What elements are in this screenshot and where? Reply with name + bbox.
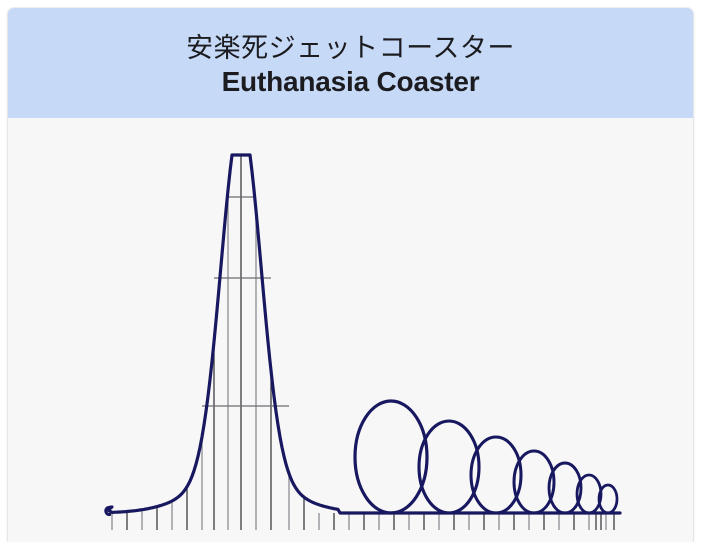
coaster-track-path [106,155,620,515]
title-japanese: 安楽死ジェットコースター [186,31,515,65]
coaster-loop-1 [355,401,427,513]
header-banner: 安楽死ジェットコースター Euthanasia Coaster [8,8,693,118]
title-english: Euthanasia Coaster [222,65,480,99]
content-card: 安楽死ジェットコースター Euthanasia Coaster [8,8,693,542]
screenshot-root: 安楽死ジェットコースター Euthanasia Coaster [0,0,701,540]
euthanasia-coaster-diagram [8,118,693,542]
coaster-loops-group [355,401,617,513]
cross-braces-group [202,197,289,406]
support-pillars-group [112,155,614,530]
diagram-area [8,118,693,542]
